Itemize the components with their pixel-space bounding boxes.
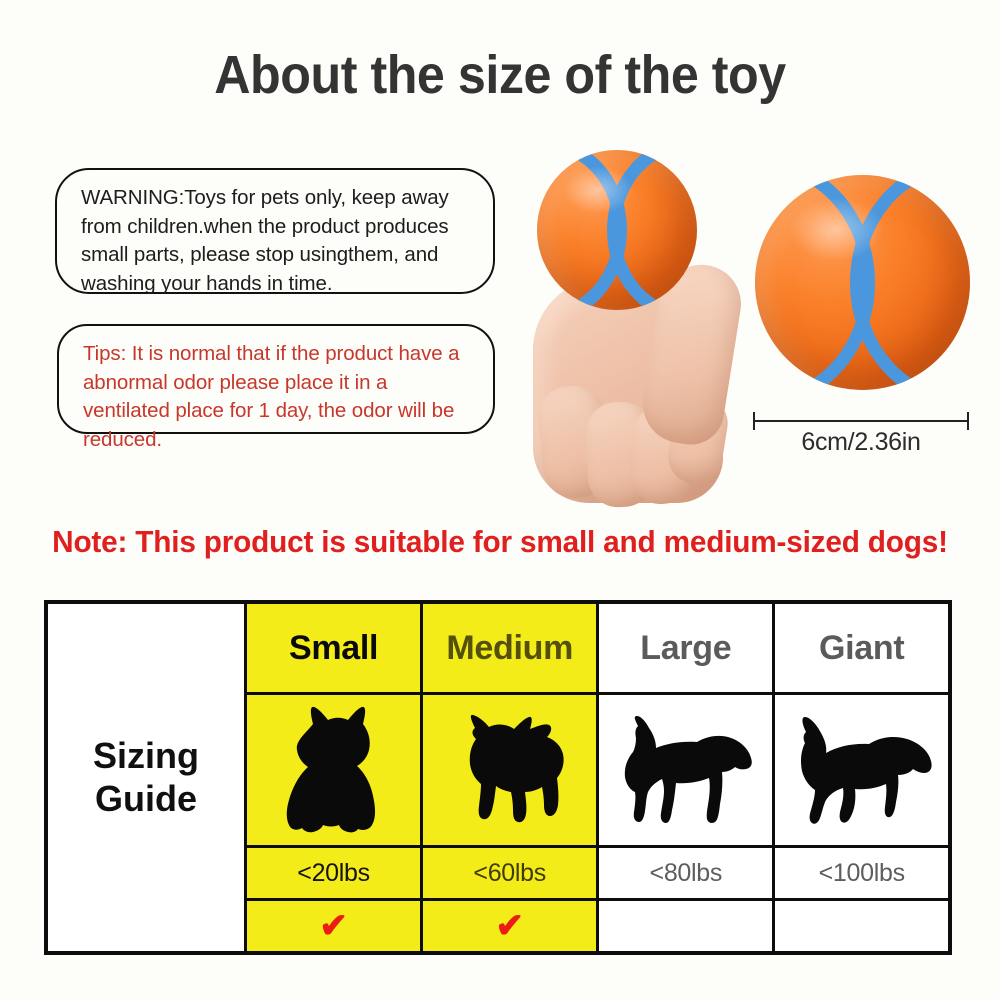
check-icon-medium: ✔ [495,907,524,945]
check-cell-large [598,900,774,954]
dog-cell-small [246,694,422,847]
header-cell-giant: Giant [774,602,950,694]
header-cell-large: Large [598,602,774,694]
weight-cell-large: <80lbs [598,847,774,900]
ball-highlight [789,197,884,262]
sizing-guide-line2: Guide [95,778,197,819]
measure-bar [753,420,969,422]
sizing-guide-table: Sizing Guide Small Medium Large Giant [44,600,952,955]
table-row-headers: Sizing Guide Small Medium Large Giant [46,602,950,694]
ball-highlight [563,166,633,214]
header-label-giant: Giant [819,629,904,667]
warning-text: WARNING:Toys for pets only, keep away fr… [81,184,471,299]
header-label-medium: Medium [446,629,573,667]
toy-ball-in-hand [537,150,697,310]
standing-spitz-icon [445,710,575,830]
weight-cell-small: <20lbs [246,847,422,900]
header-label-large: Large [640,629,731,667]
tips-callout: Tips: It is normal that if the product h… [57,324,495,434]
dimension-label: 6cm/2.36in [753,428,969,457]
page-title: About the size of the toy [35,44,965,106]
warning-callout: WARNING:Toys for pets only, keep away fr… [55,168,495,294]
check-cell-giant [774,900,950,954]
infographic-page: About the size of the toy WARNING:Toys f… [0,0,1000,1000]
weight-label-large: <80lbs [650,859,723,887]
tips-text: Tips: It is normal that if the product h… [83,340,471,455]
walking-retriever-icon [784,710,939,830]
suitability-note: Note: This product is suitable for small… [20,524,980,560]
weight-label-giant: <100lbs [819,859,905,887]
check-icon-small: ✔ [319,907,348,945]
header-label-small: Small [289,629,378,667]
weight-label-small: <20lbs [297,859,370,887]
sizing-guide-label: Sizing Guide [46,602,246,953]
weight-label-medium: <60lbs [473,859,546,887]
dog-cell-giant [774,694,950,847]
sizing-guide-line1: Sizing [93,735,199,776]
header-cell-medium: Medium [422,602,598,694]
product-photo-area: 6cm/2.36in [505,120,985,510]
dimension-measure: 6cm/2.36in [753,412,969,466]
dog-cell-large [598,694,774,847]
check-cell-medium: ✔ [422,900,598,954]
weight-cell-giant: <100lbs [774,847,950,900]
sitting-bulldog-icon [280,704,388,836]
standing-beagle-icon [611,710,761,830]
dog-cell-medium [422,694,598,847]
check-cell-small: ✔ [246,900,422,954]
header-cell-small: Small [246,602,422,694]
toy-ball-closeup [755,175,970,390]
weight-cell-medium: <60lbs [422,847,598,900]
